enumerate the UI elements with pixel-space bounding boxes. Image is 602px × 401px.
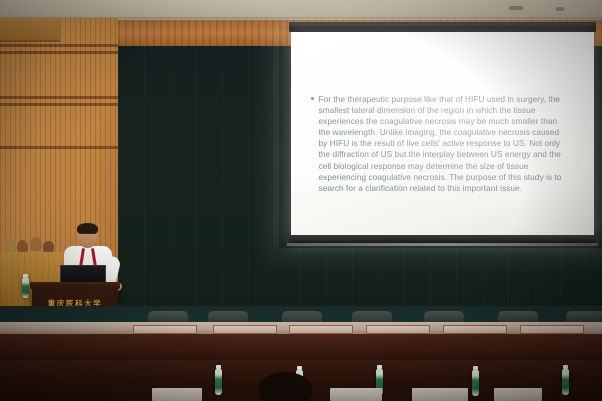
delegate-nameplate: [330, 388, 382, 401]
presidium-desk-front: [0, 334, 602, 362]
foreground-audience-head: [258, 372, 312, 401]
wood-trim-line: [0, 51, 118, 54]
bullet-dot-icon: [311, 97, 314, 100]
screen-top-casing: [289, 22, 596, 32]
wooden-header-block: [0, 18, 60, 42]
bottle-cap: [473, 366, 478, 370]
ceiling-light-fixture: [509, 6, 523, 10]
bottle-cap: [23, 274, 28, 278]
slide-content: For the therapeutic purpose like that of…: [311, 94, 569, 194]
water-bottle: [472, 370, 479, 396]
audience-member: [30, 237, 42, 251]
wood-trim-line: [0, 103, 118, 106]
bottle-cap: [297, 366, 302, 370]
slide-paragraph: For the therapeutic purpose like that of…: [319, 94, 570, 194]
delegate-nameplate: [213, 325, 277, 334]
bottle-cap: [377, 365, 382, 369]
screen-support-rail: [287, 243, 598, 246]
wood-trim-line: [0, 146, 118, 149]
delegate-nameplate: [494, 388, 542, 401]
delegate-nameplate: [366, 325, 430, 334]
water-bottle: [562, 369, 569, 395]
slide-bullet-item: For the therapeutic purpose like that of…: [311, 94, 569, 194]
delegate-nameplate: [520, 325, 584, 334]
bottle-cap: [563, 365, 568, 369]
conference-photo: The Joint I and the Ten -do d T For the …: [0, 0, 602, 401]
eyeglasses-icon: [79, 233, 96, 238]
bottle-cap: [216, 365, 221, 369]
delegate-nameplate: [412, 388, 468, 401]
water-bottle: [215, 369, 222, 395]
ceiling-light-fixture: [556, 7, 564, 11]
delegate-nameplate: [289, 325, 353, 334]
wood-trim-line: [0, 96, 118, 99]
screen-surface: For the therapeutic purpose like that of…: [291, 32, 594, 237]
delegate-nameplate: [133, 325, 197, 334]
delegate-nameplate: [443, 325, 507, 334]
projection-screen: For the therapeutic purpose like that of…: [289, 22, 596, 250]
wood-trim-line: [0, 44, 118, 47]
water-bottle: [22, 278, 29, 298]
audience-member: [4, 238, 16, 252]
delegate-nameplate: [152, 388, 202, 401]
